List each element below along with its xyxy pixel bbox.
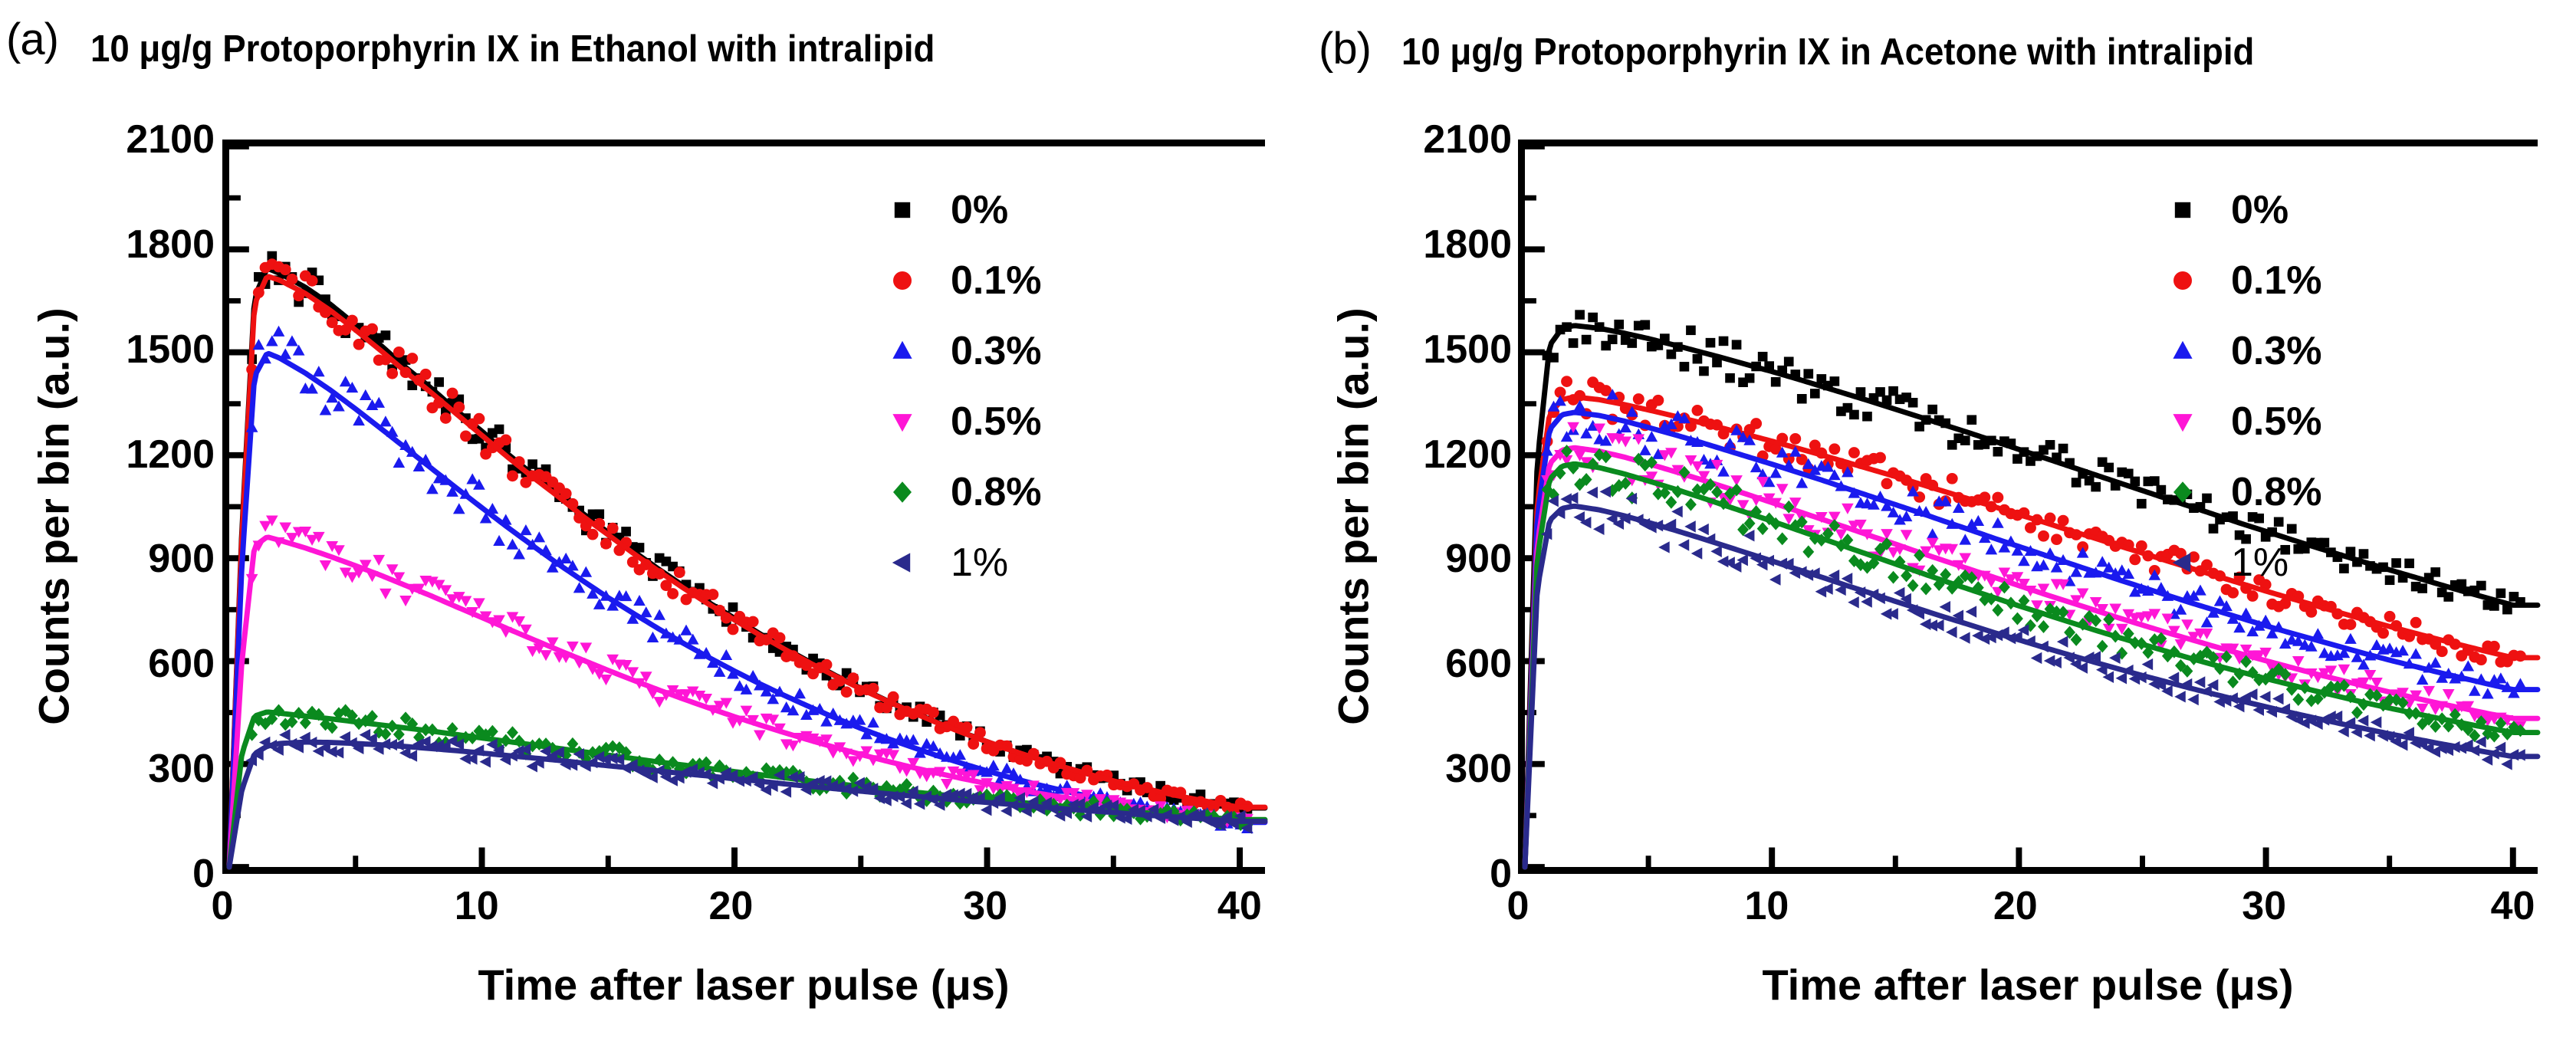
ytick-label: 900 — [1445, 536, 1512, 582]
legend-item-01[interactable]: 0.1% — [2154, 245, 2322, 316]
legend-marker-triangle-up-icon — [2154, 333, 2211, 369]
xtick-label: 0 — [1507, 883, 1529, 929]
legend-label: 0.3% — [2231, 328, 2322, 374]
panel-a-xaxis-title: Time after laser pulse (μs) — [222, 960, 1265, 1010]
legend-marker-triangle-down-icon — [2154, 404, 2211, 439]
legend-marker-triangle-up-icon — [874, 333, 931, 369]
legend-item-0[interactable]: 0% — [2154, 175, 2322, 245]
panel-a-title: 10 μg/g Protoporphyrin IX in Ethanol wit… — [90, 28, 935, 71]
xtick-label: 10 — [1744, 883, 1789, 929]
ytick-label: 300 — [1445, 746, 1512, 792]
ytick-label: 1800 — [126, 222, 215, 268]
legend-marker-triangle-left-icon — [874, 545, 931, 580]
legend-item-03[interactable]: 0.3% — [874, 316, 1042, 386]
legend-item-01[interactable]: 0.1% — [874, 245, 1042, 316]
legend-item-03[interactable]: 0.3% — [2154, 316, 2322, 386]
legend-marker-circle-icon — [874, 263, 931, 298]
panel-b-title: 10 μg/g Protoporphyrin IX in Acetone wit… — [1401, 31, 2254, 74]
legend-label: 0.1% — [951, 258, 1042, 304]
xtick-label: 40 — [2491, 883, 2535, 929]
legend-label: 0.3% — [951, 328, 1042, 374]
ytick-label: 1800 — [1423, 222, 1512, 268]
legend-label: 0.1% — [2231, 258, 2322, 304]
panel-a-yaxis-title: Counts per bin (a.u.) — [29, 149, 79, 885]
legend-marker-diamond-icon — [874, 475, 931, 510]
ytick-label: 1500 — [1423, 327, 1512, 373]
legend-item-1[interactable]: 1% — [874, 527, 1042, 598]
legend-marker-circle-icon — [2154, 263, 2211, 298]
legend-item-05[interactable]: 0.5% — [2154, 386, 2322, 457]
ytick-label: 900 — [148, 536, 215, 582]
xtick-label: 30 — [963, 883, 1007, 929]
panel-b-xaxis-title: Time after laser pulse (μs) — [1518, 960, 2538, 1010]
ytick-label: 2100 — [126, 117, 215, 163]
legend-marker-square-icon — [874, 192, 931, 228]
panel-b-plot-area — [1518, 140, 2538, 874]
xtick-label: 20 — [1993, 883, 2038, 929]
legend-item-1[interactable]: 1% — [2154, 527, 2322, 598]
figure-root: (a) 10 μg/g Protoporphyrin IX in Ethanol… — [0, 0, 2576, 1064]
ytick-label: 300 — [148, 746, 215, 792]
legend-label: 1% — [2231, 540, 2288, 586]
legend-marker-triangle-down-icon — [874, 404, 931, 439]
panel-b-tag: (b) — [1319, 23, 1371, 74]
ytick-label: 1200 — [126, 432, 215, 478]
panel-a-tag: (a) — [6, 14, 58, 65]
ytick-label: 600 — [148, 641, 215, 687]
xtick-label: 20 — [708, 883, 753, 929]
panel-b-xtick-labels: 010203040 — [1518, 883, 2538, 929]
ytick-label: 1500 — [126, 327, 215, 373]
panel-a-legend: 0%0.1%0.3%0.5%0.8%1% — [874, 175, 1042, 598]
legend-label: 0% — [951, 187, 1008, 233]
xtick-label: 10 — [455, 883, 499, 929]
legend-label: 0.5% — [951, 399, 1042, 445]
panel-a: (a) 10 μg/g Protoporphyrin IX in Ethanol… — [0, 0, 1303, 1064]
ytick-label: 2100 — [1423, 117, 1512, 163]
legend-item-05[interactable]: 0.5% — [874, 386, 1042, 457]
legend-label: 0% — [2231, 187, 2288, 233]
legend-marker-triangle-left-icon — [2154, 545, 2211, 580]
legend-item-08[interactable]: 0.8% — [2154, 457, 2322, 527]
legend-marker-square-icon — [2154, 192, 2211, 228]
ytick-label: 1200 — [1423, 432, 1512, 478]
panel-a-plot-area — [222, 140, 1265, 874]
legend-label: 0.8% — [2231, 469, 2322, 515]
legend-label: 1% — [951, 540, 1008, 586]
legend-item-0[interactable]: 0% — [874, 175, 1042, 245]
panel-a-chart-canvas — [229, 146, 1265, 867]
panel-b-yaxis-title: Counts per bin (a.u.) — [1329, 149, 1378, 885]
ytick-label: 600 — [1445, 641, 1512, 687]
panel-a-xtick-labels: 010203040 — [222, 883, 1265, 929]
panel-b-chart-canvas — [1525, 146, 2538, 867]
xtick-label: 30 — [2242, 883, 2286, 929]
panel-b-legend: 0%0.1%0.3%0.5%0.8%1% — [2154, 175, 2322, 598]
legend-item-08[interactable]: 0.8% — [874, 457, 1042, 527]
legend-marker-diamond-icon — [2154, 475, 2211, 510]
legend-label: 0.5% — [2231, 399, 2322, 445]
xtick-label: 0 — [212, 883, 234, 929]
legend-label: 0.8% — [951, 469, 1042, 515]
xtick-label: 40 — [1217, 883, 1262, 929]
